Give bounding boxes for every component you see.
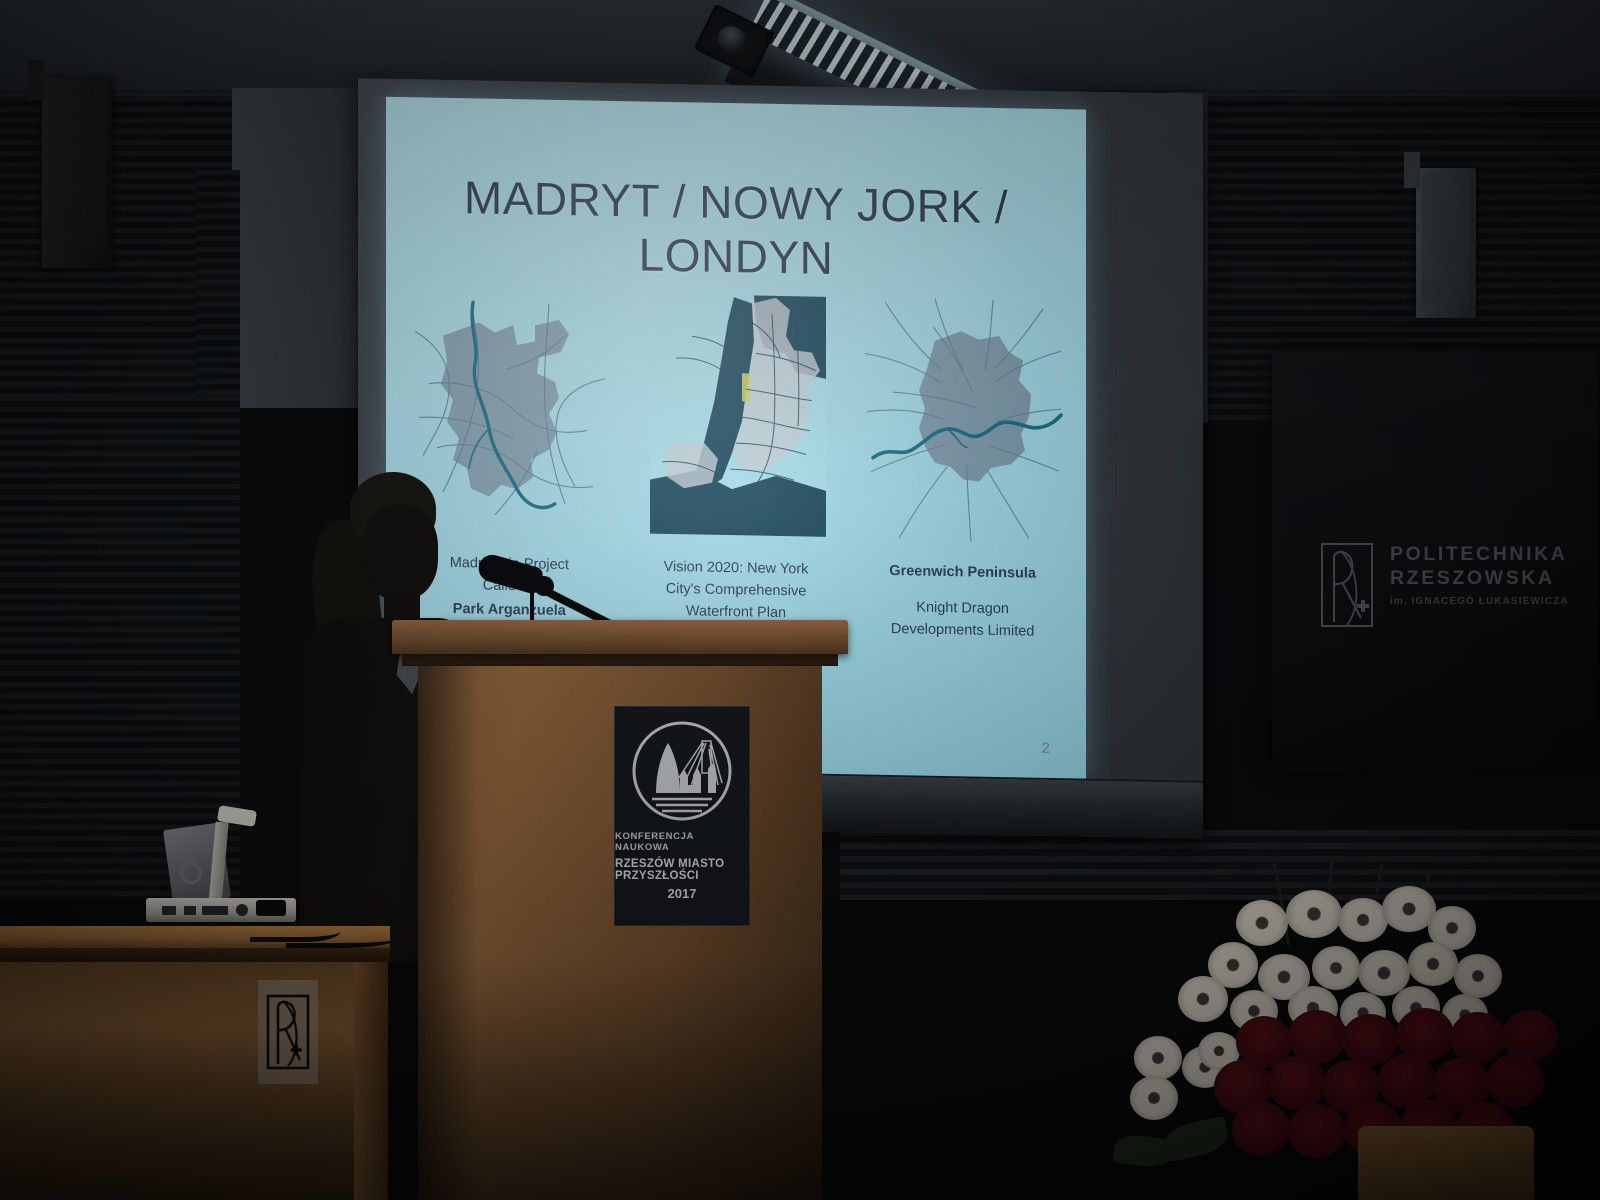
red-flower bbox=[1232, 1102, 1290, 1156]
greater-london-area bbox=[919, 331, 1031, 483]
podium-top-surface bbox=[392, 620, 848, 654]
podium-lip bbox=[402, 652, 838, 666]
white-flower bbox=[1178, 976, 1228, 1022]
connected-plug bbox=[256, 900, 286, 916]
banner-line2: RZESZOWSKA bbox=[1390, 566, 1569, 590]
speaking-podium: KONFERENCJA NAUKOWA RZESZÓW MIASTO PRZYS… bbox=[392, 620, 848, 1200]
slide-maps-row bbox=[396, 287, 1076, 559]
speaker-bracket bbox=[28, 60, 44, 100]
plaque-line1: KONFERENCJA NAUKOWA bbox=[615, 831, 749, 853]
red-flower bbox=[1486, 1054, 1544, 1108]
new-york-caption-line2: City's Comprehensive bbox=[666, 581, 807, 600]
university-banner: POLITECHNIKA RZESZOWSKA im. IGNACEGO ŁUK… bbox=[1272, 352, 1598, 772]
port-vga[interactable] bbox=[202, 906, 228, 915]
white-flower bbox=[1130, 1076, 1178, 1120]
banner-line3: im. IGNACEGO ŁUKASIEWICZA bbox=[1390, 596, 1569, 607]
wall-speaker-left bbox=[42, 78, 112, 268]
prz-logo-svg bbox=[266, 994, 310, 1070]
slide-number: 2 bbox=[1042, 740, 1050, 757]
london-caption-line1: Greenwich Peninsula bbox=[889, 563, 1036, 582]
wall-column-left bbox=[232, 88, 372, 408]
desk-edge bbox=[0, 946, 390, 962]
red-flower bbox=[1268, 1056, 1326, 1110]
london-map bbox=[863, 296, 1063, 550]
wall-speaker-right bbox=[1416, 168, 1476, 318]
desk-side-panel bbox=[354, 946, 388, 1200]
banner-line1: POLITECHNIKA bbox=[1390, 542, 1569, 566]
port-power[interactable] bbox=[236, 904, 248, 916]
speaker-grille bbox=[1422, 173, 1470, 304]
podium-shadow bbox=[418, 664, 478, 1200]
prz-banner-logo-svg bbox=[1320, 542, 1374, 628]
white-flower bbox=[1286, 890, 1342, 938]
banner-content: POLITECHNIKA RZESZOWSKA im. IGNACEGO ŁUK… bbox=[1320, 542, 1569, 628]
london-map-svg bbox=[863, 296, 1063, 550]
red-flower bbox=[1288, 1104, 1346, 1158]
white-flower bbox=[1338, 898, 1388, 942]
white-flower bbox=[1236, 900, 1288, 946]
port-lan[interactable] bbox=[162, 906, 176, 915]
london-caption: Greenwich Peninsula Knight Dragon Develo… bbox=[863, 561, 1063, 644]
new-york-caption-line3: Waterfront Plan bbox=[686, 603, 786, 621]
wall-panel-mid-left bbox=[196, 170, 240, 410]
port-usb[interactable] bbox=[184, 906, 196, 915]
new-york-map bbox=[636, 291, 836, 545]
london-caption-line2: Knight Dragon bbox=[916, 599, 1009, 617]
slide-title: MADRYT / NOWY JORK / LONDYN bbox=[386, 169, 1086, 290]
speaker-bracket bbox=[1404, 152, 1420, 188]
politechnika-rzeszowska-logo bbox=[1320, 542, 1374, 628]
london-caption-line3: Developments Limited bbox=[891, 621, 1034, 640]
desk-front-panel bbox=[0, 960, 382, 1200]
lecture-hall-scene: MADRYT / NOWY JORK / LONDYN bbox=[0, 0, 1600, 1200]
white-flower bbox=[1454, 954, 1502, 998]
red-flower bbox=[1450, 1012, 1506, 1064]
new-york-map-svg bbox=[636, 291, 836, 545]
desk-politechnika-rzeszowska-logo bbox=[258, 980, 318, 1084]
white-flower bbox=[1312, 946, 1360, 990]
speaker-grille bbox=[48, 83, 106, 254]
head bbox=[360, 504, 438, 600]
desk-cable-2 bbox=[286, 930, 396, 948]
plaque-line2: RZESZÓW MIASTO PRZYSZŁOŚCI bbox=[615, 858, 749, 882]
white-flower bbox=[1408, 942, 1458, 986]
plaque-line3: 2017 bbox=[668, 886, 697, 901]
document-camera[interactable] bbox=[146, 800, 296, 928]
new-york-caption-line1: Vision 2020: New York bbox=[664, 559, 809, 578]
banner-text-block: POLITECHNIKA RZESZOWSKA im. IGNACEGO ŁUK… bbox=[1390, 542, 1569, 607]
bridge-logo-svg bbox=[630, 719, 734, 823]
white-flower bbox=[1134, 1036, 1182, 1080]
rzeszow-bridge-skyline-logo bbox=[630, 719, 734, 823]
conference-plaque: KONFERENCJA NAUKOWA RZESZÓW MIASTO PRZYS… bbox=[614, 706, 750, 926]
central-park bbox=[742, 373, 750, 401]
wooden-chair bbox=[1358, 1126, 1534, 1200]
